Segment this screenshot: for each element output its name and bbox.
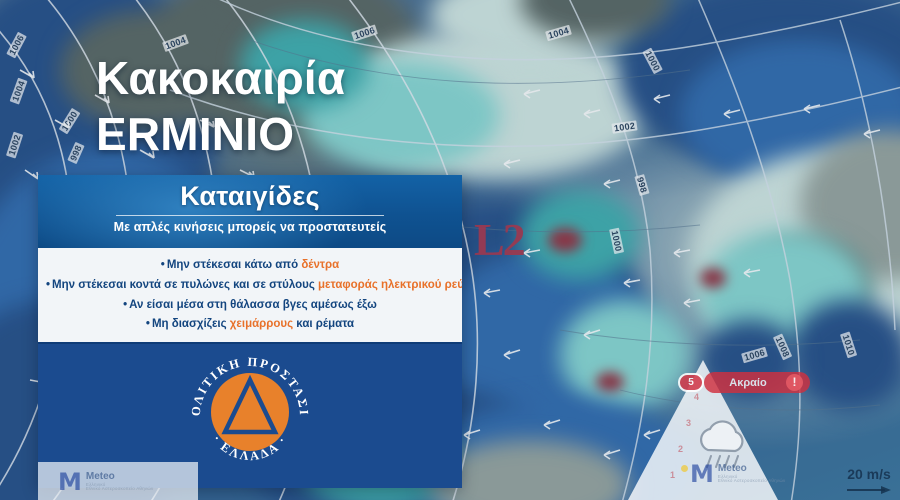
meteo-m-icon: M [690,462,714,486]
meteo-wordmark: Meteo Ελληνικό Εθνικό Αστεροσκοπείο Αθην… [718,464,786,484]
meteo-name: Meteo [86,472,154,483]
header-divider [116,215,384,216]
civil-protection-logo: ΠΟΛΙΤΙΚΗ ΠΡΟΣΤΑΣΙΑ · ΕΛΛΑΔΑ · [184,350,316,482]
list-item: •Μη διασχίζεις χειμάρρους και ρέματα [46,315,454,335]
bullet-dot: • [146,318,150,330]
safety-advice-card: Καταιγίδες Με απλές κινήσεις μπορείς να … [38,175,462,488]
warning-icon: ! [786,374,803,391]
meteo-sub-2: Εθνικό Αστεροσκοπείο Αθηνών [718,479,786,484]
advice-list: •Μην στέκεσαι κάτω από δέντρα •Μην στέκε… [38,248,462,342]
headline-line-2: ERMINIO [96,106,516,162]
list-item: •Αν είσαι μέσα στη θάλασσα βγες αμέσως έ… [46,296,454,316]
meteo-sub-2: Εθνικό Αστεροσκοπείο Αθηνών [86,487,154,492]
weather-infographic: 1006 1004 1000 998 1002 1004 1006 1004 1… [0,0,900,500]
severity-level-1: 1 [670,470,675,480]
bullet-text: Μην στέκεσαι κοντά σε πυλώνες και σε στύ… [52,279,318,291]
page-title: Κακοκαιρία ERMINIO [96,50,516,162]
bullet-dot: • [46,279,50,291]
card-subtitle: Με απλές κινήσεις μπορείς να προστατευτε… [38,220,462,234]
bullet-highlight: χειμάρρους [230,318,293,330]
bullet-text: Αν είσαι μέσα στη θάλασσα βγες αμέσως έξ… [129,299,377,311]
bullet-dot: • [123,299,127,311]
bullet-highlight: μεταφοράς ηλεκτρικού ρεύματος [318,279,462,291]
severity-level-2: 2 [678,444,683,454]
meteo-m-icon: M [58,470,82,494]
severity-level-4: 4 [694,392,699,402]
list-item: •Μην στέκεσαι κοντά σε πυλώνες και σε στ… [46,276,454,296]
status-badge: 5 [678,373,704,392]
wind-scale-legend: 20 m/s [845,466,893,500]
bullet-text: Μη διασχίζεις [152,318,230,330]
card-header: Καταιγίδες Με απλές κινήσεις μπορείς να … [38,175,462,248]
meteo-wordmark: Meteo Ελληνικό Εθνικό Αστεροσκοπείο Αθην… [86,472,154,492]
wind-arrow-icon [845,484,893,496]
bullet-highlight: δέντρα [301,259,339,271]
headline-line-1: Κακοκαιρία [96,50,516,106]
meteo-logo-bottom-left: M Meteo Ελληνικό Εθνικό Αστεροσκοπείο Αθ… [58,470,153,494]
bullet-dot: • [161,259,165,271]
wind-scale-value: 20 m/s [845,466,893,482]
bullet-text-post: και ρέματα [293,318,354,330]
card-title: Καταιγίδες [38,181,462,212]
bullet-text: Μην στέκεσαι κάτω από [167,259,302,271]
meteo-name: Meteo [718,464,786,475]
meteo-logo-bottom-right: M Meteo Ελληνικό Εθνικό Αστεροσκοπείο Αθ… [690,462,785,486]
sun-icon [681,465,688,472]
list-item: •Μην στέκεσαι κάτω από δέντρα [46,256,454,276]
